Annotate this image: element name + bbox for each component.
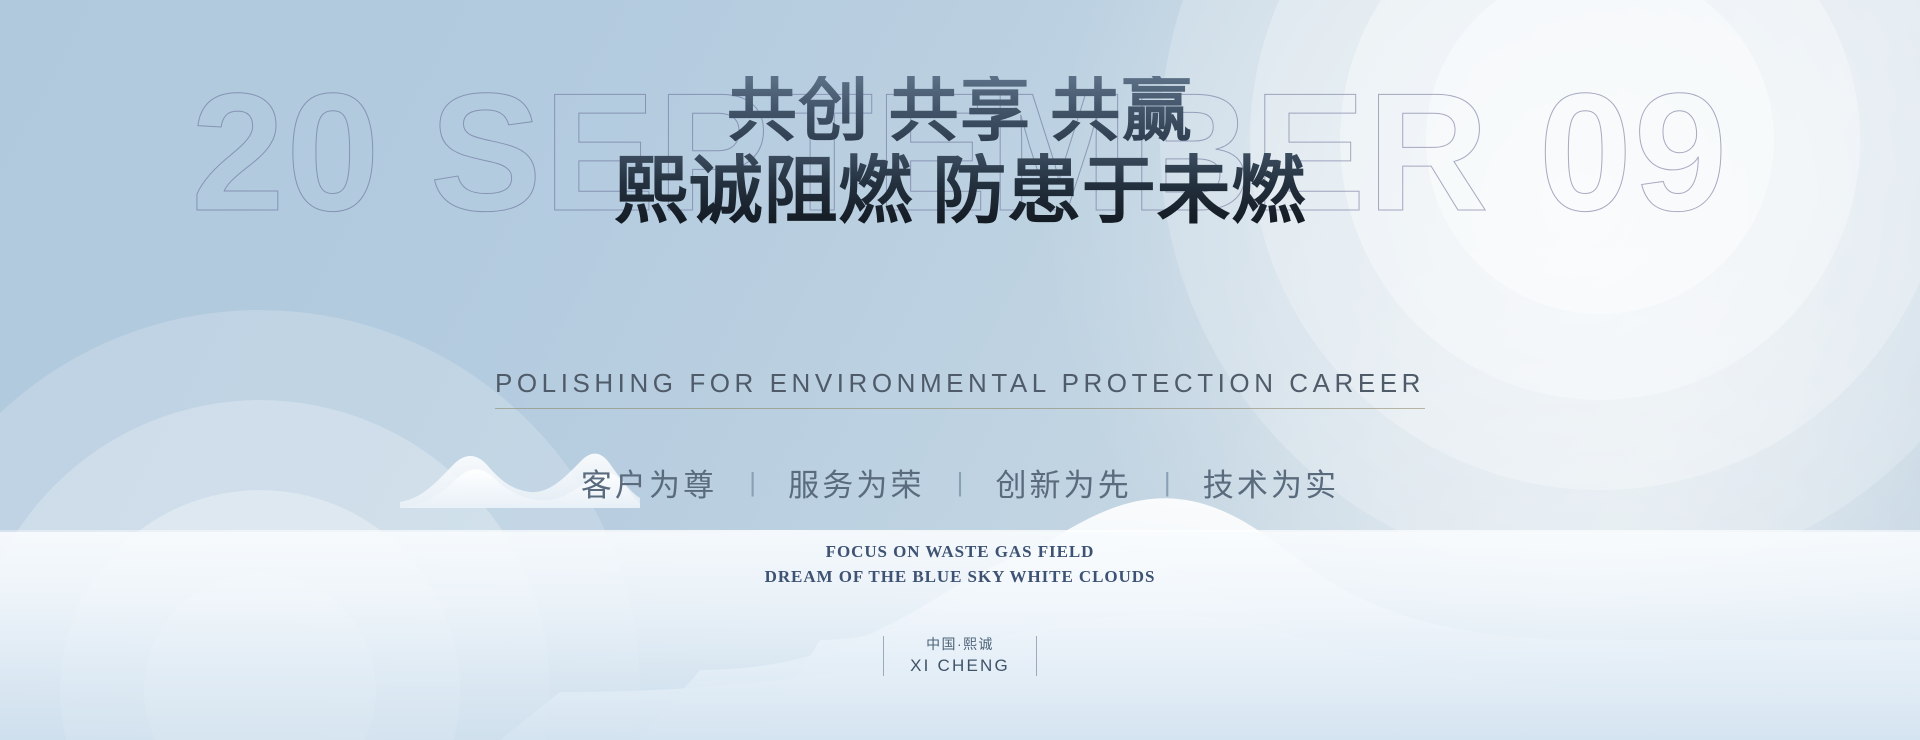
headline-line-2: 熙诚阻燃 防患于未燃 bbox=[0, 153, 1920, 231]
headline-line-1: 共创 共享 共赢 bbox=[0, 76, 1920, 149]
brand-name-cn: 中国·熙诚 bbox=[910, 634, 1010, 655]
tagline: POLISHING FOR ENVIRONMENTAL PROTECTION C… bbox=[0, 368, 1920, 409]
brand-name-en: XI CHENG bbox=[910, 655, 1010, 678]
brand-name-block: 中国·熙诚 XI CHENG bbox=[910, 634, 1010, 678]
value-item-1: 客户为尊 bbox=[581, 460, 717, 505]
banner-stage: 20 SEPTEMBER 09 共创 共享 共赢 熙诚阻燃 防患于未燃 POLI… bbox=[0, 0, 1920, 740]
micro-tagline-line-1: FOCUS ON WASTE GAS FIELD bbox=[0, 540, 1920, 565]
tagline-text: POLISHING FOR ENVIRONMENTAL PROTECTION C… bbox=[495, 368, 1425, 409]
value-separator-3: | bbox=[1136, 467, 1198, 498]
headline-block: 共创 共享 共赢 熙诚阻燃 防患于未燃 bbox=[0, 76, 1920, 231]
footer-rule-left bbox=[883, 636, 885, 676]
values-row: 客户为尊 | 服务为荣 | 创新为先 | 技术为实 bbox=[0, 460, 1920, 505]
value-separator-2: | bbox=[929, 467, 991, 498]
value-item-2: 服务为荣 bbox=[788, 460, 924, 505]
floor-horizon-line bbox=[0, 530, 1920, 532]
value-item-4: 技术为实 bbox=[1203, 460, 1339, 505]
footer-rule-right bbox=[1036, 636, 1038, 676]
micro-tagline-line-2: DREAM OF THE BLUE SKY WHITE CLOUDS bbox=[0, 565, 1920, 590]
micro-tagline-block: FOCUS ON WASTE GAS FIELD DREAM OF THE BL… bbox=[0, 540, 1920, 589]
value-separator-1: | bbox=[722, 467, 784, 498]
footer-brand-mark: 中国·熙诚 XI CHENG bbox=[0, 634, 1920, 678]
value-item-3: 创新为先 bbox=[995, 460, 1131, 505]
